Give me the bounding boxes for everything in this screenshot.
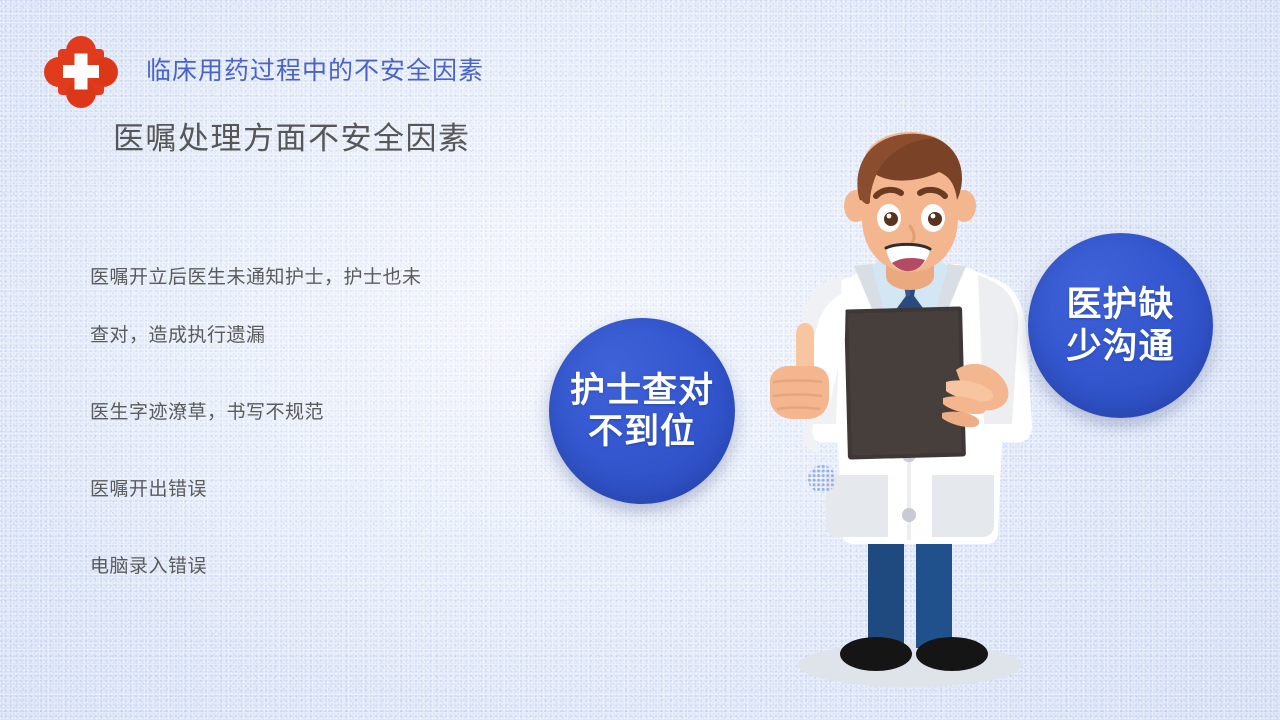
bubble-communication-line2: 少沟通 [1066,326,1174,367]
bubble-communication[interactable]: 医护缺 少沟通 [1028,233,1213,418]
bubble-nurse-check-line2: 不到位 [588,411,696,452]
section-subtitle: 医嘱处理方面不安全因素 [113,113,471,158]
slide-canvas: 临床用药过程中的不安全因素 医嘱处理方面不安全因素 医嘱开立后医生未通知护士，护… [0,0,1280,720]
body-line: 查对，造成执行遗漏 [90,320,550,347]
header-title: 临床用药过程中的不安全因素 [146,51,484,87]
body-line: 医嘱开出错误 [90,474,550,501]
bubble-communication-line1: 医护缺 [1066,284,1174,325]
body-line: 医嘱开立后医生未通知护士，护士也未 [90,262,550,289]
bubble-nurse-check-line1: 护士查对 [570,370,714,411]
bubble-nurse-check[interactable]: 护士查对 不到位 [549,318,735,504]
body-text-list: 医嘱开立后医生未通知护士，护士也未 查对，造成执行遗漏 医生字迹潦草，书写不规范… [90,262,550,609]
body-line: 电脑录入错误 [90,551,550,578]
doctor-illustration [700,130,1120,690]
decorative-dot-cluster [808,465,836,493]
body-line: 医生字迹潦草，书写不规范 [90,397,550,424]
red-medical-cross-icon [44,36,118,108]
